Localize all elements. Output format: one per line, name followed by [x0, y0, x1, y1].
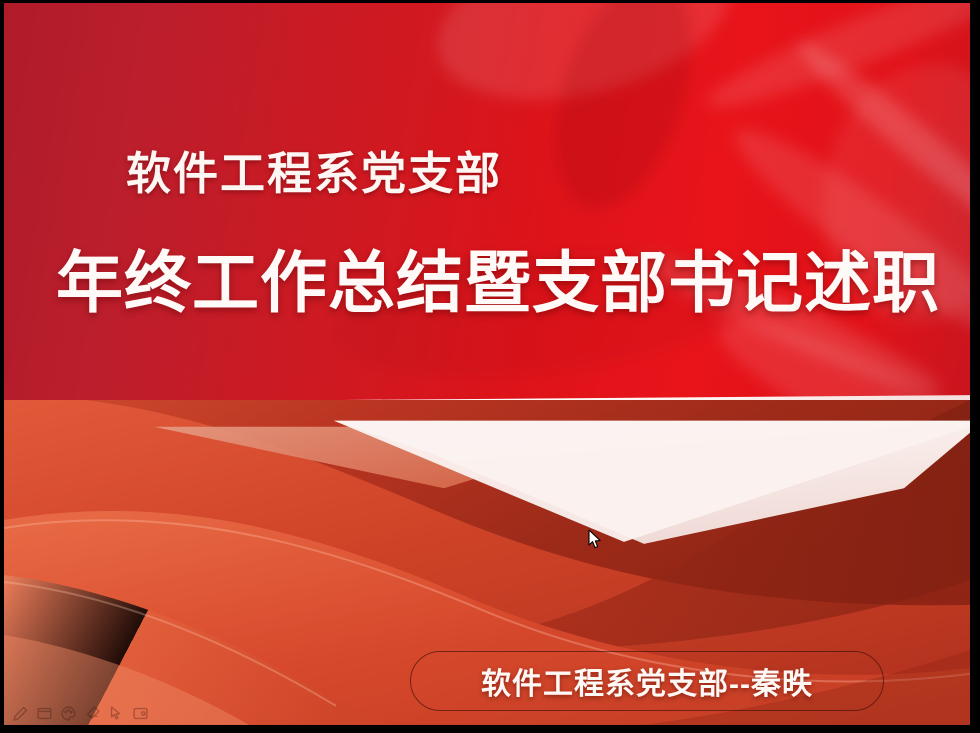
ink-color-icon[interactable]	[60, 705, 77, 722]
slideshow-annotation-toolbar[interactable]	[12, 705, 149, 722]
presenter-pill-label: 软件工程系党支部--秦昳	[481, 659, 813, 703]
laser-pointer-icon[interactable]	[108, 705, 125, 722]
slideshow-letterbox-frame: 软件工程系党支部 年终工作总结暨支部书记述职	[0, 0, 980, 733]
eraser-icon[interactable]	[84, 705, 101, 722]
slide-subtitle: 软件工程系党支部	[126, 151, 502, 196]
presentation-slide[interactable]: 软件工程系党支部 年终工作总结暨支部书记述职	[4, 3, 970, 725]
pen-icon[interactable]	[12, 705, 29, 722]
slide-title: 年终工作总结暨支部书记述职	[56, 250, 940, 317]
presenter-pill[interactable]: 软件工程系党支部--秦昳	[410, 651, 884, 711]
more-options-icon[interactable]	[132, 705, 149, 722]
slide-navigator-icon[interactable]	[36, 705, 53, 722]
